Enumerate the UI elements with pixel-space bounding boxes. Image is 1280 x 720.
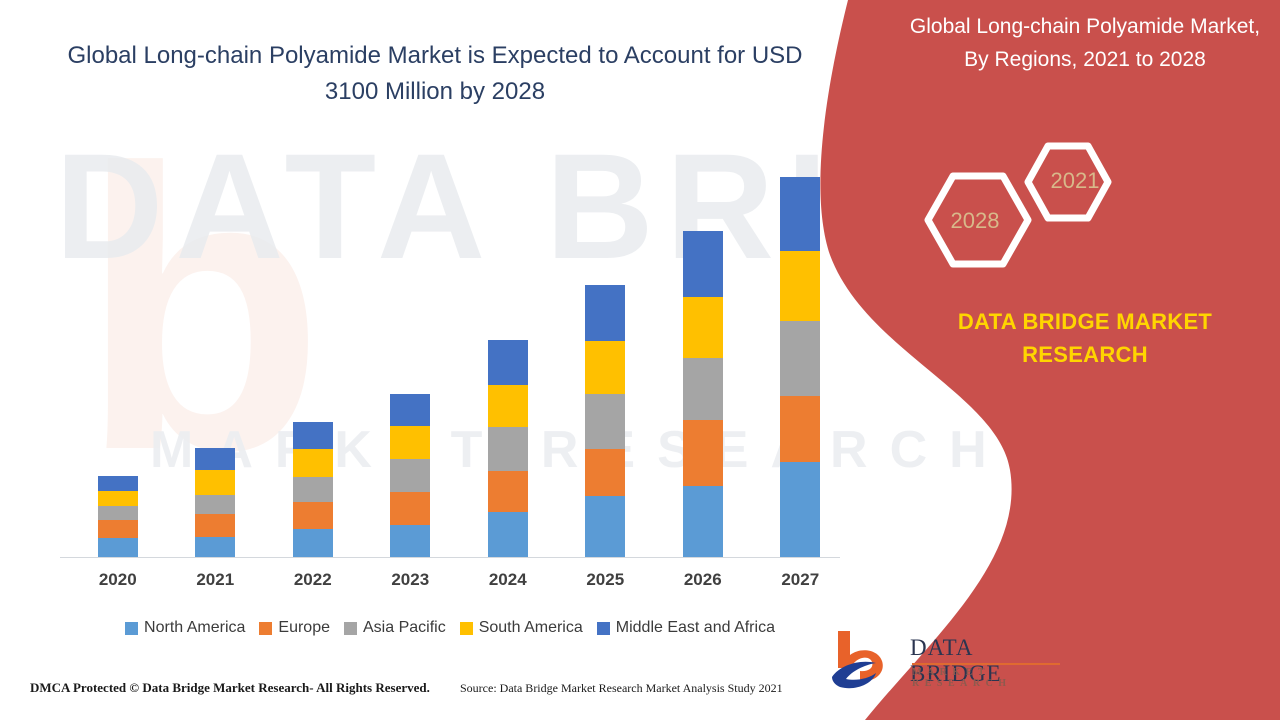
bar-segment-north-america [293,529,333,557]
logo-divider [912,663,1060,665]
legend-swatch-icon-europe [259,622,272,635]
page-title: Global Long-chain Polyamide Market is Ex… [60,38,810,110]
bar-segment-europe [195,514,235,536]
x-axis-label-2021: 2021 [185,570,245,590]
bar-segment-middle-east-and-africa [195,448,235,469]
bar-segment-south-america [390,426,430,460]
x-axis-label-2022: 2022 [283,570,343,590]
x-axis-line [60,557,840,558]
hexagon-group: 2021 2028 [810,140,1280,300]
logo-mark-icon [830,625,900,695]
bar-segment-europe [488,471,528,513]
bar-segment-south-america [488,385,528,427]
x-axis-label-2024: 2024 [478,570,538,590]
chart-plot-area [60,150,840,558]
panel-content: Global Long-chain Polyamide Market, By R… [810,0,1280,720]
legend-item-asia-pacific[interactable]: Asia Pacific [344,619,446,637]
stacked-bar-chart [60,150,840,560]
legend-swatch-icon-asia-pacific [344,622,357,635]
bar-segment-south-america [585,341,625,394]
x-axis-label-2023: 2023 [380,570,440,590]
bar-segment-south-america [683,297,723,358]
bar-segment-asia-pacific [683,358,723,420]
legend-label-europe: Europe [278,619,330,637]
x-axis-label-2025: 2025 [575,570,635,590]
bar-segment-middle-east-and-africa [585,285,625,341]
bar-segment-asia-pacific [195,495,235,514]
bar-segment-middle-east-and-africa [98,476,138,491]
legend-label-north-america: North America [144,619,245,637]
legend-label-middle-east-and-africa: Middle East and Africa [616,619,775,637]
legend-item-middle-east-and-africa[interactable]: Middle East and Africa [597,619,775,637]
company-logo: DATA BRIDGE MARKET RESEARCH [830,625,1070,705]
infographic-root: b DATA BRIDGE MARKET RESEARCH Global Lon… [0,0,1280,720]
bar-segment-europe [293,502,333,528]
hexagon-label-2021: 2021 [1030,168,1120,194]
bar-segment-asia-pacific [98,506,138,520]
bar-segment-asia-pacific [585,394,625,449]
legend-label-south-america: South America [479,619,583,637]
bar-segment-middle-east-and-africa [488,340,528,385]
footer: DMCA Protected © Data Bridge Market Rese… [0,680,850,710]
brand-panel: Global Long-chain Polyamide Market, By R… [810,0,1280,720]
panel-title-line-1: Global Long-chain Polyamide [910,15,1184,38]
chart-legend: North AmericaEuropeAsia PacificSouth Ame… [60,615,840,641]
bar-segment-south-america [98,491,138,506]
legend-swatch-icon-middle-east-and-africa [597,622,610,635]
page-title-line-1: Global Long-chain Polyamide Market is Ex… [67,42,745,69]
footer-source: Source: Data Bridge Market Research Mark… [460,681,783,696]
brand-name-line-1: DATA BRIDGE MARKET [958,309,1212,334]
bar-segment-south-america [293,449,333,476]
bar-segment-north-america [683,486,723,557]
bar-2026 [683,231,723,557]
bar-segment-middle-east-and-africa [683,231,723,296]
bar-segment-north-america [98,538,138,557]
bar-2021 [195,448,235,557]
hexagon-shapes [810,140,1280,300]
bar-segment-europe [98,520,138,537]
brand-name-line-2: RESEARCH [1022,342,1148,367]
bar-2023 [390,394,430,557]
bar-segment-north-america [585,496,625,557]
bar-segment-asia-pacific [488,427,528,471]
bar-segment-europe [683,420,723,486]
logo-tagline: MARKET RESEARCH [912,667,1070,689]
bar-segment-europe [585,449,625,496]
bar-2022 [293,422,333,557]
x-axis-label-2020: 2020 [88,570,148,590]
legend-item-south-america[interactable]: South America [460,619,583,637]
x-axis-labels: 20202021202220232024202520262027 [60,570,840,596]
legend-swatch-icon-north-america [125,622,138,635]
panel-title: Global Long-chain Polyamide Market, By R… [905,10,1265,76]
bar-2024 [488,340,528,557]
bar-segment-asia-pacific [293,477,333,502]
legend-item-europe[interactable]: Europe [259,619,330,637]
bar-segment-south-america [195,470,235,495]
bar-segment-middle-east-and-africa [293,422,333,449]
legend-label-asia-pacific: Asia Pacific [363,619,446,637]
bar-segment-europe [390,492,430,526]
x-axis-label-2026: 2026 [673,570,733,590]
bar-segment-middle-east-and-africa [390,394,430,426]
bar-2025 [585,285,625,557]
bar-segment-north-america [390,525,430,557]
brand-name: DATA BRIDGE MARKET RESEARCH [920,305,1250,371]
bar-2020 [98,476,138,557]
hexagon-label-2028: 2028 [930,208,1020,234]
legend-swatch-icon-south-america [460,622,473,635]
bar-segment-north-america [195,537,235,557]
bar-segment-asia-pacific [390,459,430,492]
legend-item-north-america[interactable]: North America [125,619,245,637]
bar-segment-north-america [488,512,528,557]
footer-copyright: DMCA Protected © Data Bridge Market Rese… [30,680,430,696]
